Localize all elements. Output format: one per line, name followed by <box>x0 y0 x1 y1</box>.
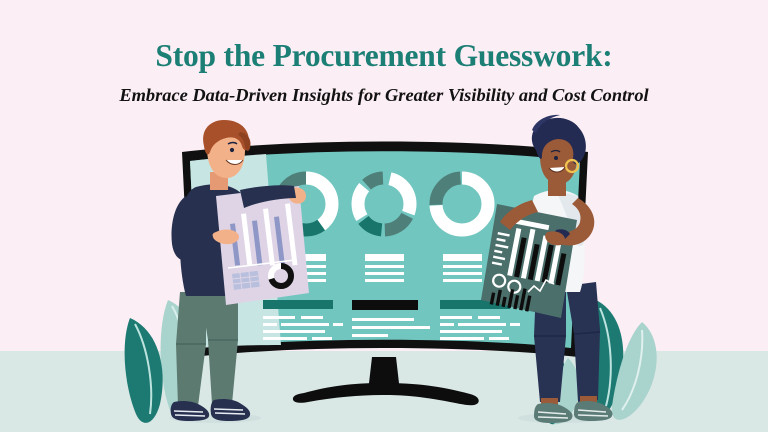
bar-chart-report-board <box>216 186 309 305</box>
banner-root: Stop the Procurement Guesswork: Embrace … <box>0 0 768 432</box>
page-subtitle: Embrace Data-Driven Insights for Greater… <box>0 83 768 107</box>
data-report-board <box>481 204 577 318</box>
page-title: Stop the Procurement Guesswork: <box>0 38 768 74</box>
headline: Stop the Procurement Guesswork: Embrace … <box>0 38 768 107</box>
